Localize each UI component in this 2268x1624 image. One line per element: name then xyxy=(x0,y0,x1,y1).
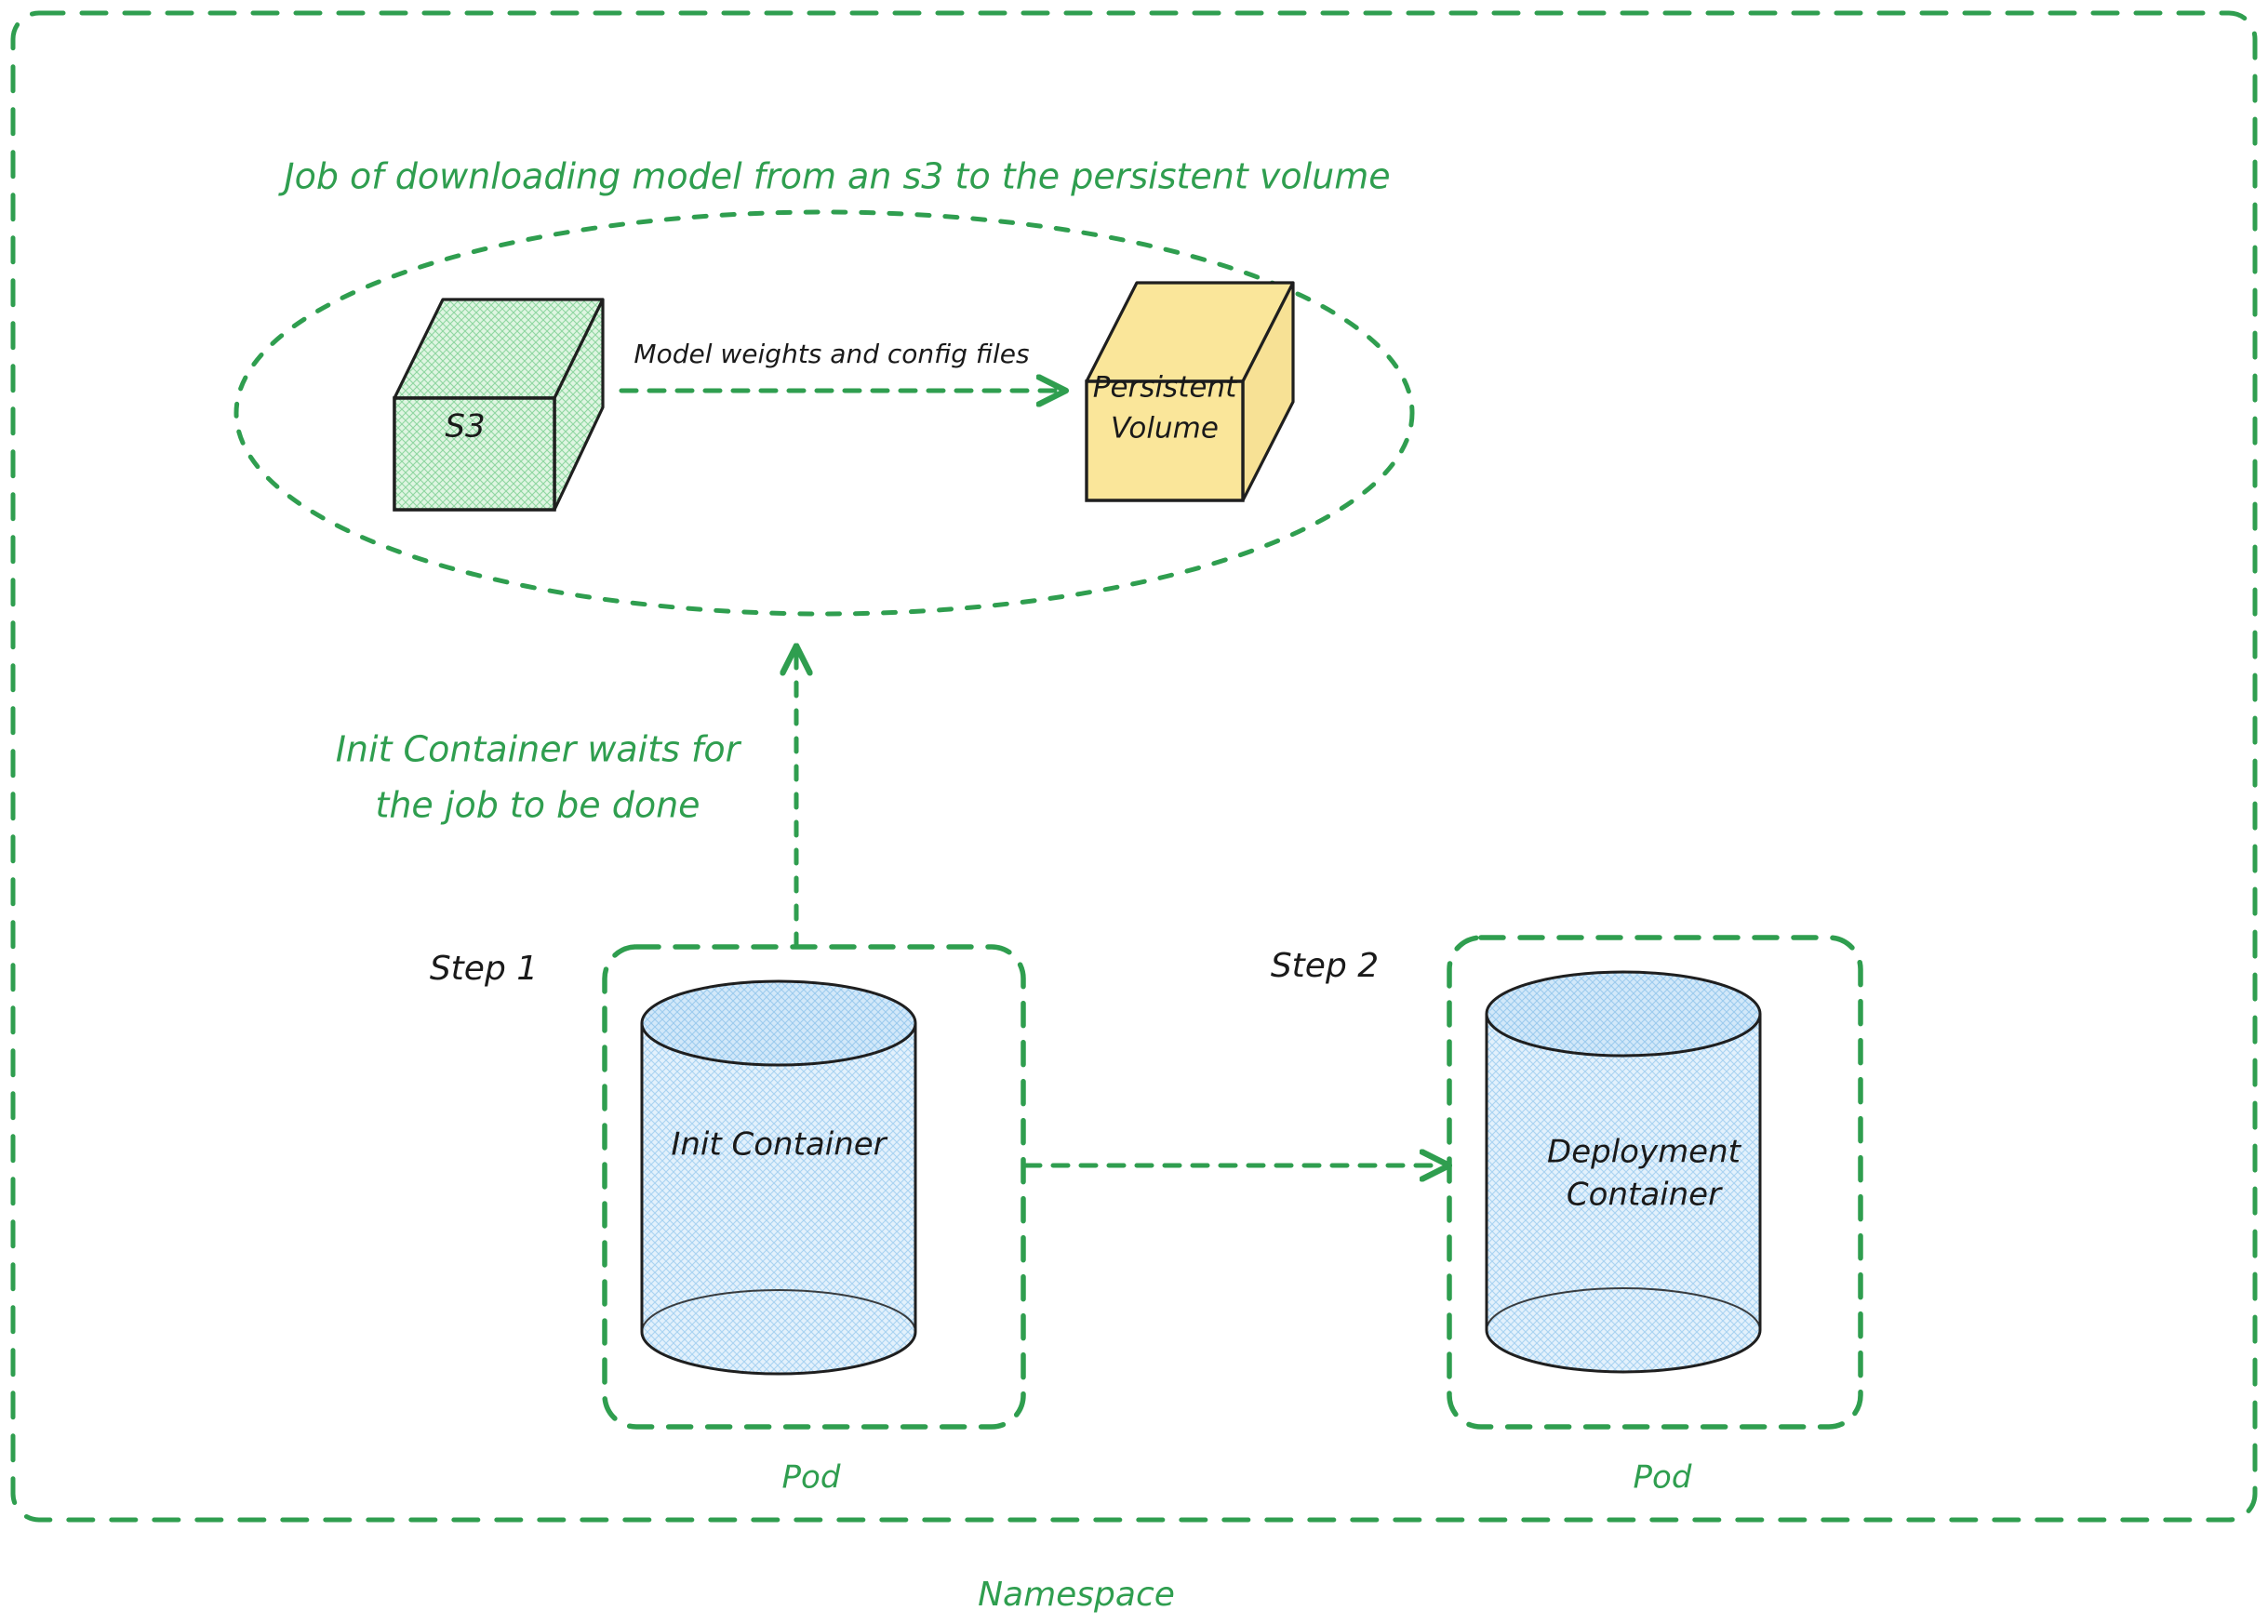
pod-2: Step 2 Deployment Container Pod xyxy=(1271,938,1861,1497)
init-container-cylinder xyxy=(642,981,915,1374)
namespace-label: Namespace xyxy=(978,1576,1175,1614)
deployment-container-label-line1: Deployment xyxy=(1547,1134,1742,1171)
pod-2-label: Pod xyxy=(1634,1459,1692,1497)
pod-1-label: Pod xyxy=(782,1459,841,1497)
persistent-volume-cube: Persistent Volume xyxy=(1087,283,1293,500)
init-wait-note-line2: the job to be done xyxy=(375,785,700,826)
architecture-diagram: S3 Persistent Volume Model weights and c… xyxy=(0,0,2268,1624)
deployment-container-label-line2: Container xyxy=(1567,1177,1723,1214)
model-transfer-arrow-label: Model weights and config files xyxy=(634,339,1029,369)
deployment-container-cylinder xyxy=(1487,972,1760,1372)
init-container-label: Init Container xyxy=(671,1126,887,1164)
job-group-title: Job of downloading model from an s3 to t… xyxy=(277,156,1390,197)
init-wait-note-line1: Init Container waits for xyxy=(336,729,742,770)
pod-2-step-label: Step 2 xyxy=(1271,947,1379,985)
pod-1-step-label: Step 1 xyxy=(430,950,538,988)
persistent-volume-label-line2: Volume xyxy=(1111,412,1219,446)
persistent-volume-label-line1: Persistent xyxy=(1093,371,1238,405)
s3-cube-label: S3 xyxy=(445,408,485,446)
diagram-canvas: S3 Persistent Volume Model weights and c… xyxy=(0,0,2268,1624)
pod-1: Step 1 Init Container Pod xyxy=(430,947,1023,1497)
s3-cube: S3 xyxy=(394,300,603,510)
